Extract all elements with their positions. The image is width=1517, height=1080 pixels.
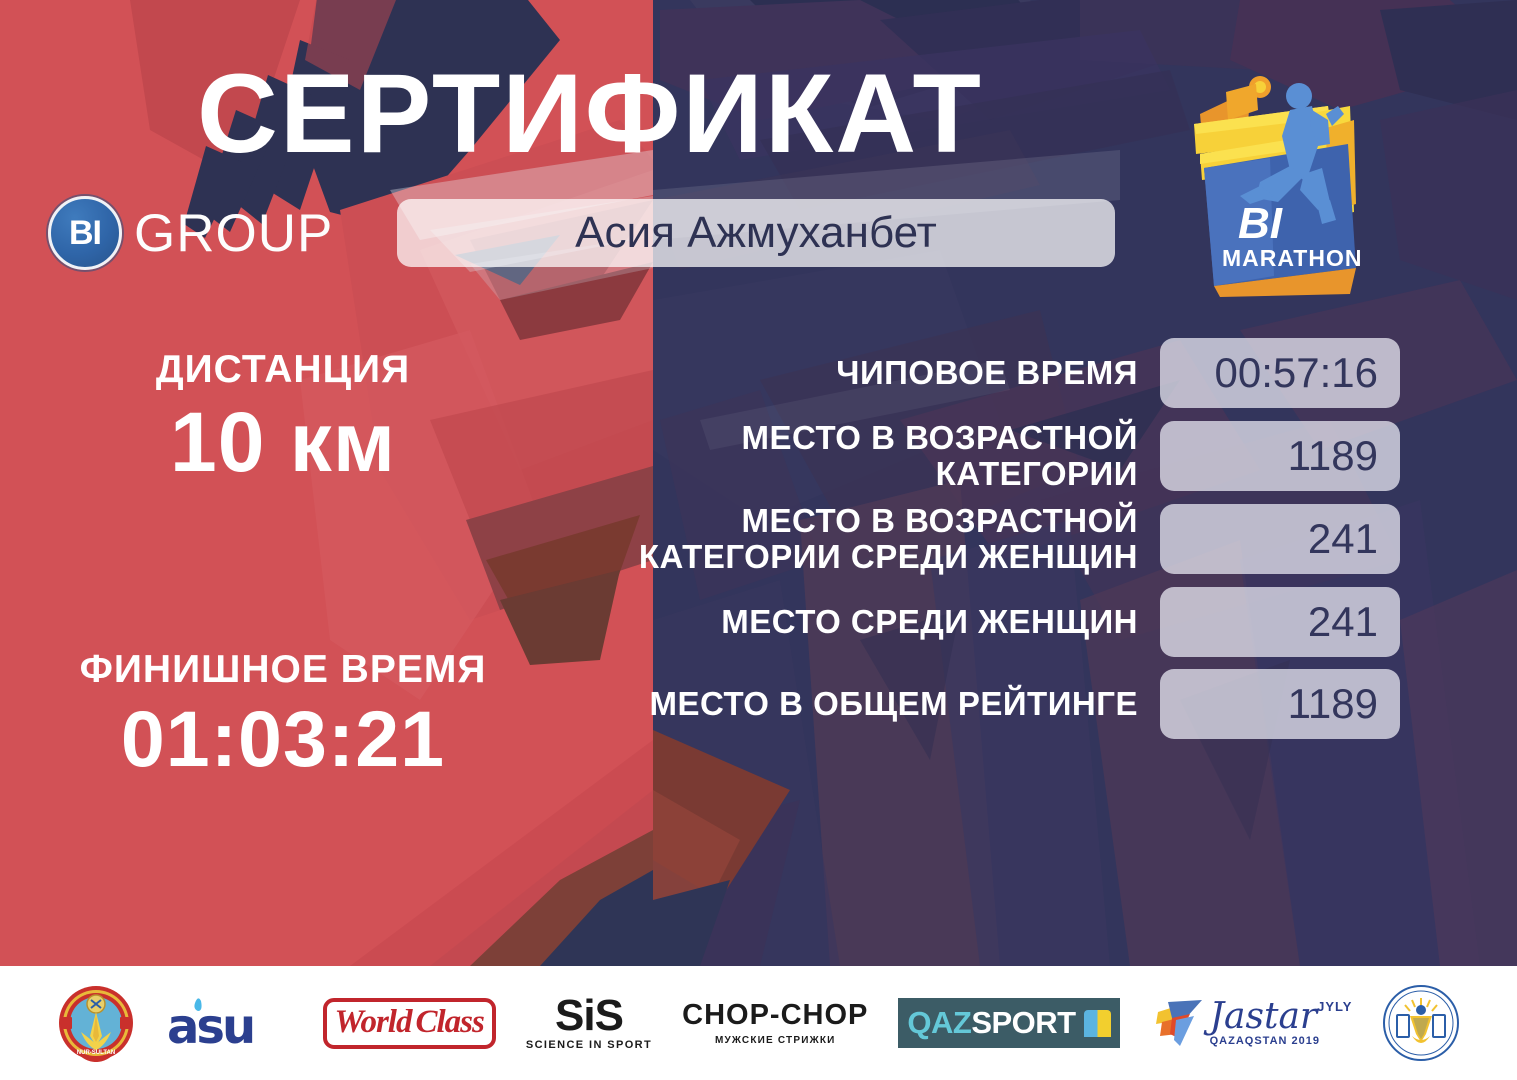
jastar-subline: QAZAQSTAN 2019: [1210, 1035, 1353, 1047]
stat-value: 1189: [1288, 680, 1378, 728]
stat-value-pill: 241: [1160, 587, 1400, 657]
stat-label: МЕСТО СРЕДИ ЖЕНЩИН: [620, 604, 1160, 640]
chop-chop-wordmark: CHOP-CHOP: [682, 1001, 868, 1030]
bi-group-logo: BI GROUP: [48, 196, 333, 270]
participant-name-field: Асия Ажмуханбет: [397, 199, 1115, 267]
distance-label: ДИСТАНЦИЯ: [48, 348, 518, 392]
stat-value: 241: [1308, 598, 1378, 646]
sis-wordmark: SiS: [555, 995, 623, 1037]
bi-badge-icon: BI: [48, 196, 122, 270]
jastar-jyly-label: JYLY: [1317, 999, 1352, 1014]
bi-group-wordmark: GROUP: [134, 203, 333, 264]
stat-value-pill: 1189: [1160, 421, 1400, 491]
asu-wordmark: asu: [167, 999, 253, 1053]
stat-value-pill: 1189: [1160, 669, 1400, 739]
bi-badge-label: BI: [69, 214, 101, 253]
sponsor-ministry-emblem-icon: [1382, 984, 1460, 1062]
sponsor-bar: NUR-SULTAN asu World Class SiS Science i…: [0, 966, 1517, 1080]
chop-chop-tagline: МУЖСКИЕ СТРИЖКИ: [715, 1035, 836, 1046]
participant-name: Асия Ажмуханбет: [575, 208, 937, 258]
stat-label: МЕСТО В ОБЩЕМ РЕЙТИНГЕ: [620, 686, 1160, 722]
finish-time-block: ФИНИШНОЕ ВРЕМЯ 01:03:21: [48, 648, 518, 783]
finish-time-label: ФИНИШНОЕ ВРЕМЯ: [48, 648, 518, 692]
sponsor-nur-sultan-emblem-icon: NUR-SULTAN: [57, 984, 135, 1062]
results-stats-list: ЧИПОВОЕ ВРЕМЯ 00:57:16 МЕСТО В ВОЗРАСТНО…: [620, 338, 1400, 751]
world-class-word2: Class: [415, 1004, 483, 1041]
stat-row: МЕСТО В ОБЩЕМ РЕЙТИНГЕ 1189: [620, 669, 1400, 739]
sponsor-chop-chop-logo: CHOP-CHOP МУЖСКИЕ СТРИЖКИ: [682, 1001, 868, 1046]
world-class-word1: World: [335, 1004, 412, 1041]
stat-value: 241: [1308, 515, 1378, 563]
stat-value: 1189: [1288, 432, 1378, 480]
stat-label: МЕСТО В ВОЗРАСТНОЙ КАТЕГОРИИ: [620, 420, 1160, 491]
jastar-wordmark: Jastar: [1210, 999, 1318, 1035]
distance-value: 10 км: [48, 396, 518, 488]
bi-marathon-logo: BI MARATHON: [1178, 62, 1383, 297]
nur-sultan-label: NUR-SULTAN: [76, 1050, 114, 1056]
distance-block: ДИСТАНЦИЯ 10 км: [48, 348, 518, 488]
sponsor-asu-logo: asu: [165, 993, 293, 1053]
stat-value-pill: 241: [1160, 504, 1400, 574]
sponsor-qazsport-logo: QAZ SPORT: [898, 998, 1119, 1048]
qazsport-mark-icon: [1084, 1010, 1111, 1037]
stat-label: ЧИПОВОЕ ВРЕМЯ: [620, 355, 1160, 391]
qazsport-word1: QAZ: [907, 1005, 971, 1041]
stat-value: 00:57:16: [1215, 349, 1379, 397]
certificate-canvas: СЕРТИФИКАТ BI GROUP Асия Ажмуханбет: [0, 0, 1517, 1080]
stat-value-pill: 00:57:16: [1160, 338, 1400, 408]
qazsport-word2: SPORT: [971, 1005, 1075, 1041]
bi-marathon-line2: MARATHON: [1222, 245, 1362, 271]
sponsor-sis-logo: SiS Science in Sport: [526, 995, 652, 1051]
stat-label: МЕСТО В ВОЗРАСТНОЙ КАТЕГОРИИ СРЕДИ ЖЕНЩИ…: [620, 503, 1160, 574]
stat-row: ЧИПОВОЕ ВРЕМЯ 00:57:16: [620, 338, 1400, 408]
stat-row: МЕСТО СРЕДИ ЖЕНЩИН 241: [620, 587, 1400, 657]
page-title: СЕРТИФИКАТ: [0, 58, 1180, 170]
finish-time-value: 01:03:21: [48, 696, 518, 783]
stat-row: МЕСТО В ВОЗРАСТНОЙ КАТЕГОРИИ СРЕДИ ЖЕНЩИ…: [620, 503, 1400, 574]
sponsor-jastar-jyly-logo: Jastar JYLY QAZAQSTAN 2019: [1150, 994, 1353, 1052]
sponsor-world-class-logo: World Class: [323, 998, 496, 1049]
sis-tagline: Science in Sport: [526, 1039, 652, 1051]
bi-marathon-line1: BI: [1238, 199, 1283, 248]
stat-row: МЕСТО В ВОЗРАСТНОЙ КАТЕГОРИИ 1189: [620, 420, 1400, 491]
